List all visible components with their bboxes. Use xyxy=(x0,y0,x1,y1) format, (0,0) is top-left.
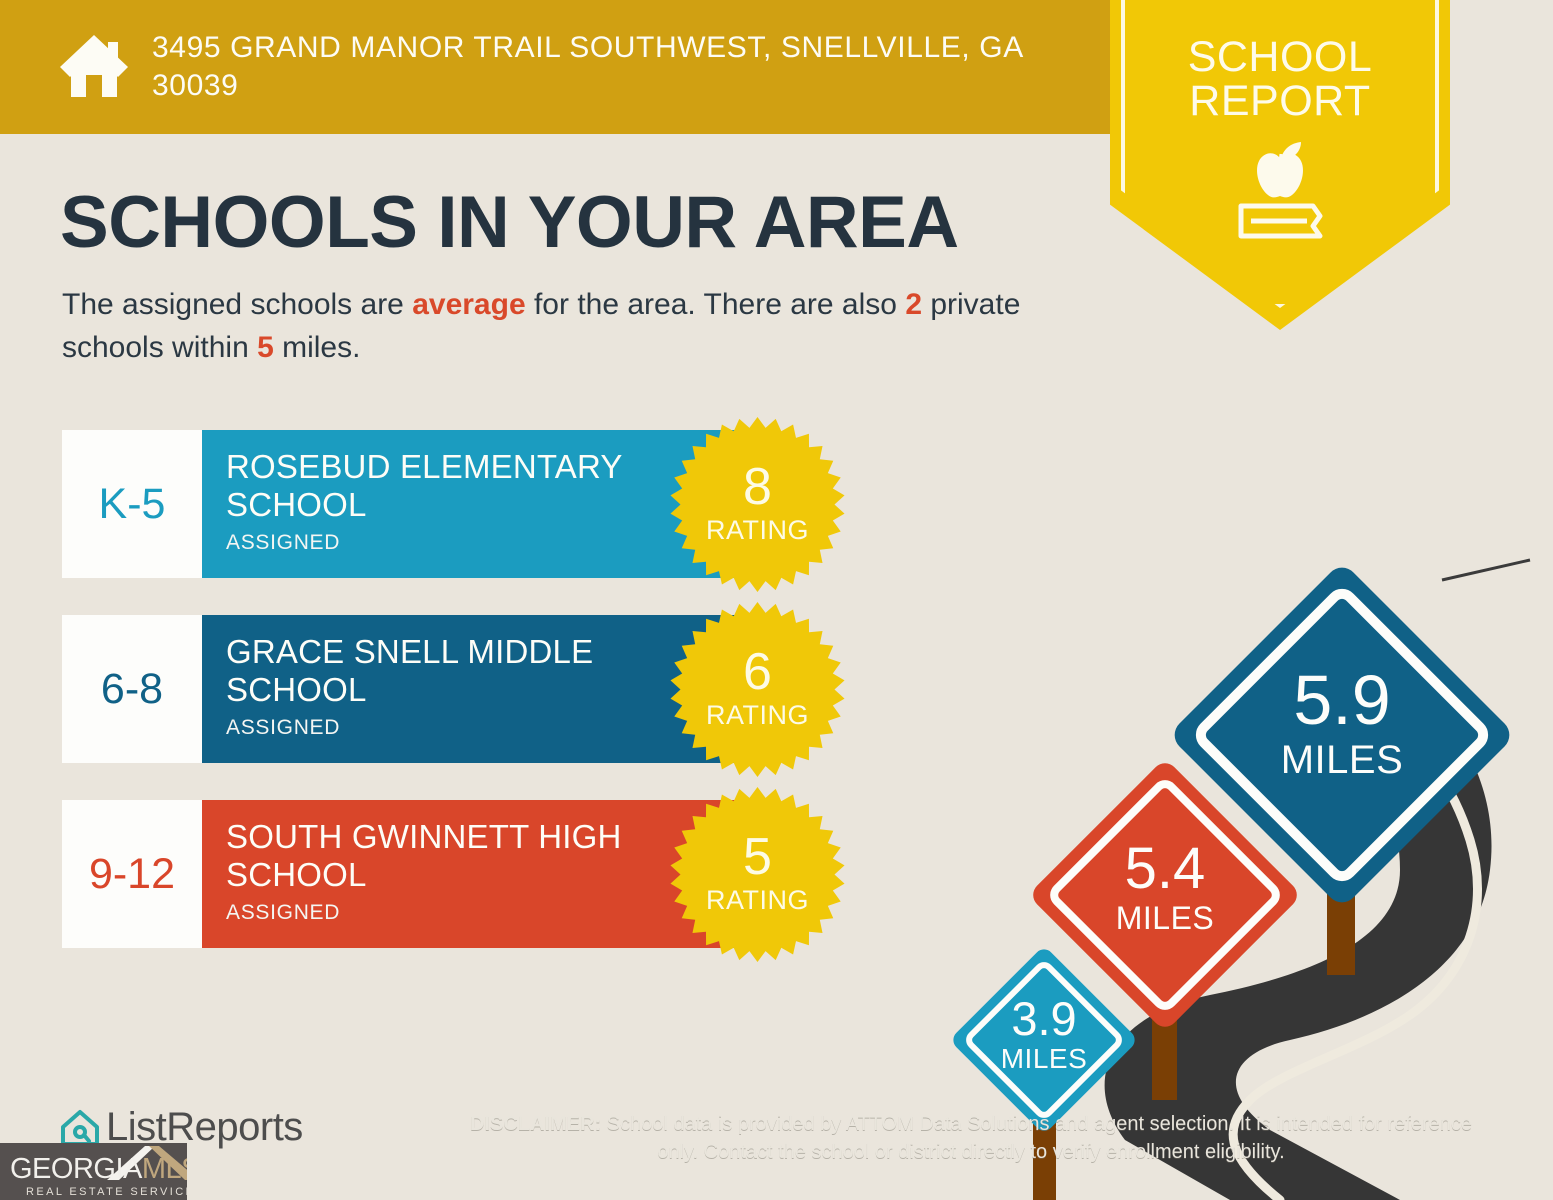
georgiamls-wordmark: GEORGIAMLS xyxy=(10,1153,187,1186)
grade-box: 9-12 xyxy=(62,800,202,948)
school-name: GRACE SNELL MIDDLE SCHOOL xyxy=(226,633,666,710)
property-address: 3495 GRAND MANOR TRAIL SOUTHWEST, SNELLV… xyxy=(152,29,1082,106)
georgiamls-logo[interactable]: GEORGIAMLS REAL ESTATE SERVICES xyxy=(0,1143,187,1200)
header-bar: 3495 GRAND MANOR TRAIL SOUTHWEST, SNELLV… xyxy=(0,0,1118,134)
apple-on-book-icon xyxy=(1221,140,1339,245)
page-title: SCHOOLS IN YOUR AREA xyxy=(60,186,959,259)
subtitle-part-1: The assigned schools are xyxy=(62,288,412,321)
grade-label: 6-8 xyxy=(101,665,163,714)
badge-title-line1: SCHOOL xyxy=(1110,36,1450,80)
georgiamls-tagline: REAL ESTATE SERVICES xyxy=(26,1186,187,1198)
georgiamls-secondary: MLS xyxy=(142,1153,187,1185)
page-subtitle: The assigned schools are average for the… xyxy=(62,284,1097,369)
rating-starburst: 8 RATING xyxy=(670,417,845,592)
school-report-badge: SCHOOL REPORT xyxy=(1110,0,1450,330)
disclaimer-label: DISCLAIMER: xyxy=(470,1113,601,1135)
grade-box: 6-8 xyxy=(62,615,202,763)
school-row[interactable]: 6-8 GRACE SNELL MIDDLE SCHOOL ASSIGNED 6… xyxy=(62,615,762,763)
badge-title-line2: REPORT xyxy=(1110,80,1450,124)
subtitle-part-2: for the area. There are also xyxy=(526,288,906,321)
grade-label: K-5 xyxy=(99,480,166,529)
rating-starburst: 6 RATING xyxy=(670,602,845,777)
subtitle-highlight-radius: 5 xyxy=(257,331,274,364)
starburst-shape xyxy=(670,417,844,592)
georgiamls-primary: GEORGIA xyxy=(10,1153,142,1185)
subtitle-part-4: miles. xyxy=(274,331,361,364)
home-icon xyxy=(58,29,130,101)
grade-label: 9-12 xyxy=(89,850,175,899)
starburst-shape xyxy=(670,602,844,777)
subtitle-highlight-count: 2 xyxy=(905,288,922,321)
grade-box: K-5 xyxy=(62,430,202,578)
subtitle-highlight-average: average xyxy=(412,288,525,321)
school-row[interactable]: 9-12 SOUTH GWINNETT HIGH SCHOOL ASSIGNED… xyxy=(62,800,762,948)
school-report-infographic: 3495 GRAND MANOR TRAIL SOUTHWEST, SNELLV… xyxy=(0,0,1553,1200)
disclaimer: DISCLAIMER: School data is provided by A… xyxy=(456,1110,1486,1167)
rating-starburst: 5 RATING xyxy=(670,787,845,962)
school-list: K-5 ROSEBUD ELEMENTARY SCHOOL ASSIGNED 8… xyxy=(62,430,762,985)
school-name: ROSEBUD ELEMENTARY SCHOOL xyxy=(226,448,666,525)
sign-wire xyxy=(1442,560,1530,580)
school-name: SOUTH GWINNETT HIGH SCHOOL xyxy=(226,818,666,895)
road-scene: 3.9 MILES 5.4 MILES 5.9 MILES xyxy=(930,440,1553,1200)
badge-title: SCHOOL REPORT xyxy=(1110,36,1450,124)
starburst-shape xyxy=(670,787,844,962)
disclaimer-text: School data is provided by ATTOM Data So… xyxy=(601,1113,1472,1163)
school-row[interactable]: K-5 ROSEBUD ELEMENTARY SCHOOL ASSIGNED 8… xyxy=(62,430,762,578)
